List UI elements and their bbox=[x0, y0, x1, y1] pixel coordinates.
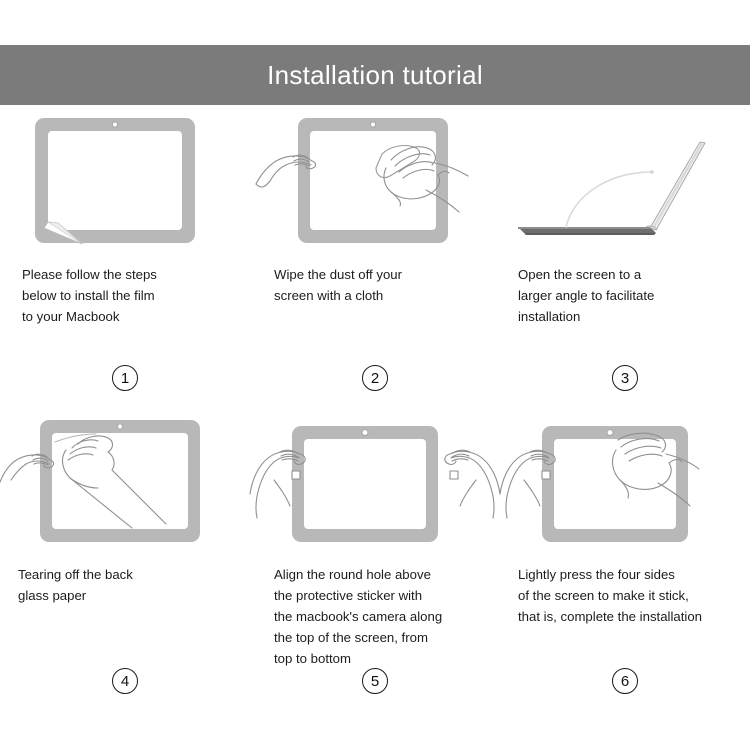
caption-line: below to install the film bbox=[22, 285, 244, 306]
steps-grid: Please follow the steps below to install… bbox=[0, 110, 750, 750]
step-number: 4 bbox=[121, 673, 129, 690]
illustration-press-film-sides bbox=[500, 410, 750, 560]
step-caption-3: Open the screen to a larger angle to fac… bbox=[500, 264, 750, 327]
step-caption-5: Align the round hole above the protectiv… bbox=[250, 564, 500, 669]
caption-line: Please follow the steps bbox=[22, 264, 244, 285]
installation-tutorial-page: Installation tutorial bbox=[0, 0, 750, 750]
step-caption-6: Lightly press the four sides of the scre… bbox=[500, 564, 750, 627]
caption-line: Align the round hole above bbox=[274, 564, 494, 585]
caption-line: Open the screen to a bbox=[518, 264, 744, 285]
caption-line: top to bottom bbox=[274, 648, 494, 669]
caption-line: Wipe the dust off your bbox=[274, 264, 494, 285]
illustration-wipe-screen-cloth bbox=[250, 110, 500, 260]
illustration-align-film-two-hands bbox=[250, 410, 500, 560]
step-caption-4: Tearing off the back glass paper bbox=[0, 564, 250, 606]
step-panel-1: Please follow the steps below to install… bbox=[0, 110, 250, 410]
step-number-badge-6: 6 bbox=[612, 668, 638, 694]
step-number: 2 bbox=[371, 370, 379, 387]
step-panel-3: Open the screen to a larger angle to fac… bbox=[500, 110, 750, 410]
step-panel-2: Wipe the dust off your screen with a clo… bbox=[250, 110, 500, 410]
caption-line: larger angle to facilitate bbox=[518, 285, 744, 306]
step-number: 5 bbox=[371, 673, 379, 690]
caption-line: Tearing off the back bbox=[18, 564, 244, 585]
caption-line: screen with a cloth bbox=[274, 285, 494, 306]
illustration-macbook-peeling-film bbox=[0, 110, 250, 260]
step-number-badge-2: 2 bbox=[362, 365, 388, 391]
caption-line: of the screen to make it stick, bbox=[518, 585, 744, 606]
illustration-open-laptop-angle bbox=[500, 110, 750, 260]
caption-line: to your Macbook bbox=[22, 306, 244, 327]
caption-line: the macbook's camera along bbox=[274, 606, 494, 627]
illustration-tear-backing-paper bbox=[0, 410, 250, 560]
page-title: Installation tutorial bbox=[267, 62, 483, 88]
step-number-badge-1: 1 bbox=[112, 365, 138, 391]
caption-line: the top of the screen, from bbox=[274, 627, 494, 648]
step-caption-2: Wipe the dust off your screen with a clo… bbox=[250, 264, 500, 306]
step-number-badge-5: 5 bbox=[362, 668, 388, 694]
step-caption-1: Please follow the steps below to install… bbox=[0, 264, 250, 327]
caption-line: that is, complete the installation bbox=[518, 606, 744, 627]
step-number-badge-4: 4 bbox=[112, 668, 138, 694]
caption-line: Lightly press the four sides bbox=[518, 564, 744, 585]
step-panel-6: Lightly press the four sides of the scre… bbox=[500, 410, 750, 710]
step-number: 6 bbox=[621, 673, 629, 690]
step-number-badge-3: 3 bbox=[612, 365, 638, 391]
caption-line: installation bbox=[518, 306, 744, 327]
step-panel-5: Align the round hole above the protectiv… bbox=[250, 410, 500, 710]
step-number: 1 bbox=[121, 370, 129, 387]
step-number: 3 bbox=[621, 370, 629, 387]
header-banner: Installation tutorial bbox=[0, 45, 750, 105]
step-panel-4: Tearing off the back glass paper 4 bbox=[0, 410, 250, 710]
caption-line: glass paper bbox=[18, 585, 244, 606]
caption-line: the protective sticker with bbox=[274, 585, 494, 606]
